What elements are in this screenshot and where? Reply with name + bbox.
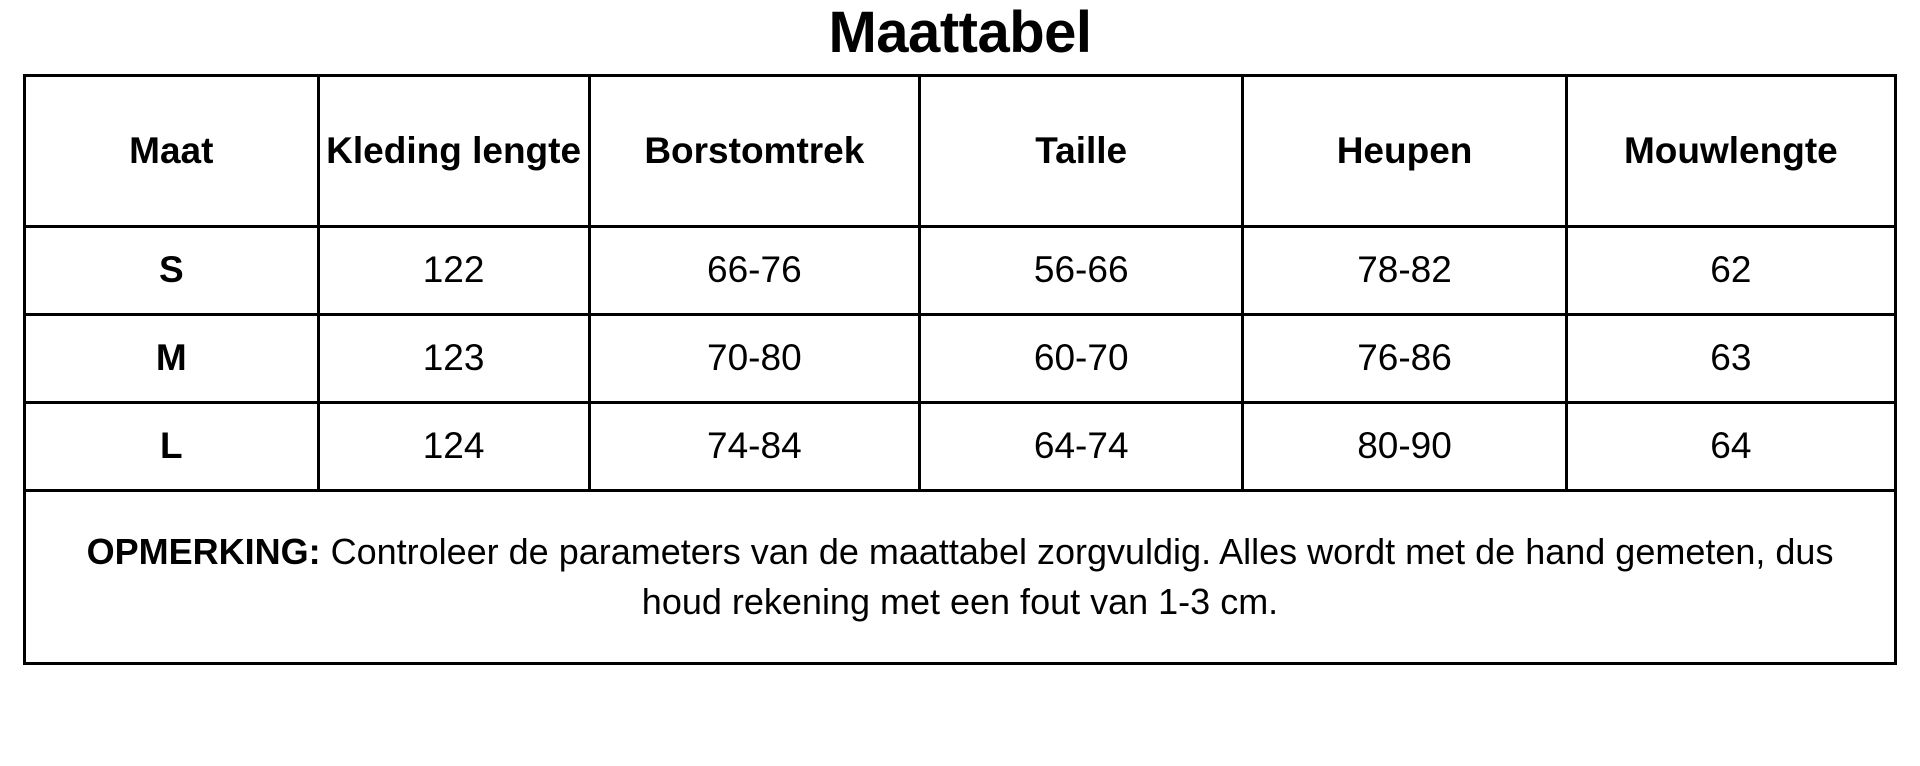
table-header: Maat Kleding lengte Borstomtrek Taille H… (25, 76, 1896, 227)
cell-sleeve-length: 64 (1566, 403, 1895, 491)
cell-clothing-length: 124 (318, 403, 589, 491)
note-cell: OPMERKING: Controleer de parameters van … (25, 491, 1896, 664)
note-label: OPMERKING: (87, 531, 331, 572)
table-body: S 122 66-76 56-66 78-82 62 M 123 70-80 6… (25, 227, 1896, 491)
table-row: S 122 66-76 56-66 78-82 62 (25, 227, 1896, 315)
table-header-row: Maat Kleding lengte Borstomtrek Taille H… (25, 76, 1896, 227)
cell-waist: 64-74 (920, 403, 1243, 491)
size-chart-table: Maat Kleding lengte Borstomtrek Taille H… (23, 74, 1897, 665)
cell-bust: 66-76 (589, 227, 919, 315)
cell-hips: 76-86 (1243, 315, 1566, 403)
cell-sleeve-length: 62 (1566, 227, 1895, 315)
column-header-heupen: Heupen (1243, 76, 1566, 227)
cell-clothing-length: 122 (318, 227, 589, 315)
note-text: Controleer de parameters van de maattabe… (331, 531, 1834, 622)
column-header-maat: Maat (25, 76, 319, 227)
size-chart-page: Maattabel Maat Kleding lengte Borstomtre… (0, 0, 1920, 766)
column-header-borstomtrek: Borstomtrek (589, 76, 919, 227)
cell-waist: 60-70 (920, 315, 1243, 403)
note-row: OPMERKING: Controleer de parameters van … (25, 491, 1896, 664)
cell-hips: 80-90 (1243, 403, 1566, 491)
cell-sleeve-length: 63 (1566, 315, 1895, 403)
column-header-taille: Taille (920, 76, 1243, 227)
table-row: L 124 74-84 64-74 80-90 64 (25, 403, 1896, 491)
cell-waist: 56-66 (920, 227, 1243, 315)
cell-bust: 70-80 (589, 315, 919, 403)
cell-bust: 74-84 (589, 403, 919, 491)
table-row: M 123 70-80 60-70 76-86 63 (25, 315, 1896, 403)
table-footer: OPMERKING: Controleer de parameters van … (25, 491, 1896, 664)
cell-size: S (25, 227, 319, 315)
column-header-kleding-lengte: Kleding lengte (318, 76, 589, 227)
cell-size: M (25, 315, 319, 403)
column-header-mouwlengte: Mouwlengte (1566, 76, 1895, 227)
cell-hips: 78-82 (1243, 227, 1566, 315)
cell-clothing-length: 123 (318, 315, 589, 403)
cell-size: L (25, 403, 319, 491)
page-title: Maattabel (23, 0, 1897, 74)
